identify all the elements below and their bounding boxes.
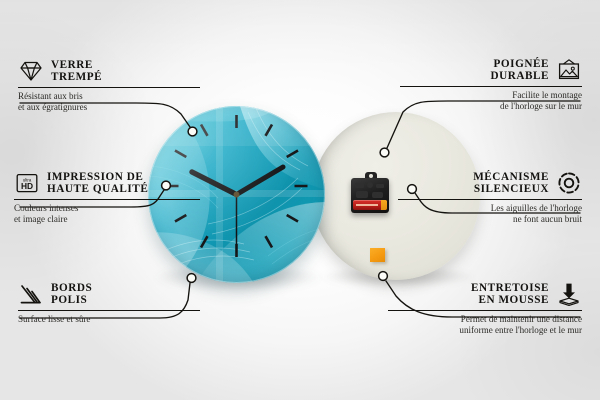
- gear-icon: [556, 170, 582, 196]
- feature-description: Facilite le montage de l'horloge sur le …: [400, 90, 582, 111]
- feature-divider: [400, 86, 582, 87]
- connector-node-poignee: [380, 148, 389, 157]
- connector-node-verre-trempe: [188, 127, 197, 136]
- feature-title: IMPRESSION DE HAUTE QUALITÉ: [47, 171, 148, 196]
- feature-title: POIGNÉE DURABLE: [490, 58, 549, 83]
- feature-title: BORDS POLIS: [51, 282, 92, 307]
- feature-divider: [398, 199, 582, 200]
- feature-header: ENTRETOISE EN MOUSSE: [388, 281, 582, 307]
- feature-divider: [18, 87, 200, 88]
- feature-header: POIGNÉE DURABLE: [400, 57, 582, 83]
- feature-description: Les aiguilles de l'horloge ne font aucun…: [398, 203, 582, 224]
- feature-divider: [388, 310, 582, 311]
- feature-description: Surface lisse et sûre: [18, 314, 200, 325]
- feature-entretoise-en-mousse: ENTRETOISE EN MOUSSE Permet de maintenir…: [388, 281, 582, 336]
- foam-spacer-icon: [556, 281, 582, 307]
- feature-impression-haute-qualite: ultra HD IMPRESSION DE HAUTE QUALITÉ Cou…: [14, 170, 200, 225]
- feature-title: VERRE TREMPÉ: [51, 59, 102, 84]
- infographic-canvas: VERRE TREMPÉ Résistant aux bris et aux é…: [0, 0, 600, 400]
- feature-header: MÉCANISME SILENCIEUX: [398, 170, 582, 196]
- feature-title: MÉCANISME SILENCIEUX: [473, 171, 549, 196]
- feature-bords-polis: BORDS POLIS Surface lisse et sûre: [18, 281, 200, 325]
- diamond-icon: [18, 58, 44, 84]
- connector-node-entretoise: [379, 272, 388, 281]
- feature-verre-trempe: VERRE TREMPÉ Résistant aux bris et aux é…: [18, 58, 200, 113]
- feature-title: ENTRETOISE EN MOUSSE: [471, 282, 549, 307]
- feature-poignee-durable: POIGNÉE DURABLE Facilite le montage de l…: [400, 57, 582, 112]
- feature-header: VERRE TREMPÉ: [18, 58, 200, 84]
- feature-description: Résistant aux bris et aux égratignures: [18, 91, 200, 112]
- feature-header: ultra HD IMPRESSION DE HAUTE QUALITÉ: [14, 170, 200, 196]
- ultra-hd-icon: ultra HD: [14, 170, 40, 196]
- picture-hanger-icon: [556, 57, 582, 83]
- feature-divider: [18, 310, 200, 311]
- feature-header: BORDS POLIS: [18, 281, 200, 307]
- feature-divider: [14, 199, 200, 200]
- feature-description: Permet de maintenir une distance uniform…: [388, 314, 582, 335]
- feature-mecanisme-silencieux: MÉCANISME SILENCIEUX Les aiguilles de l'…: [398, 170, 582, 225]
- svg-text:HD: HD: [21, 181, 33, 191]
- feature-description: Couleurs intenses et image claire: [14, 203, 200, 224]
- polished-edges-icon: [18, 281, 44, 307]
